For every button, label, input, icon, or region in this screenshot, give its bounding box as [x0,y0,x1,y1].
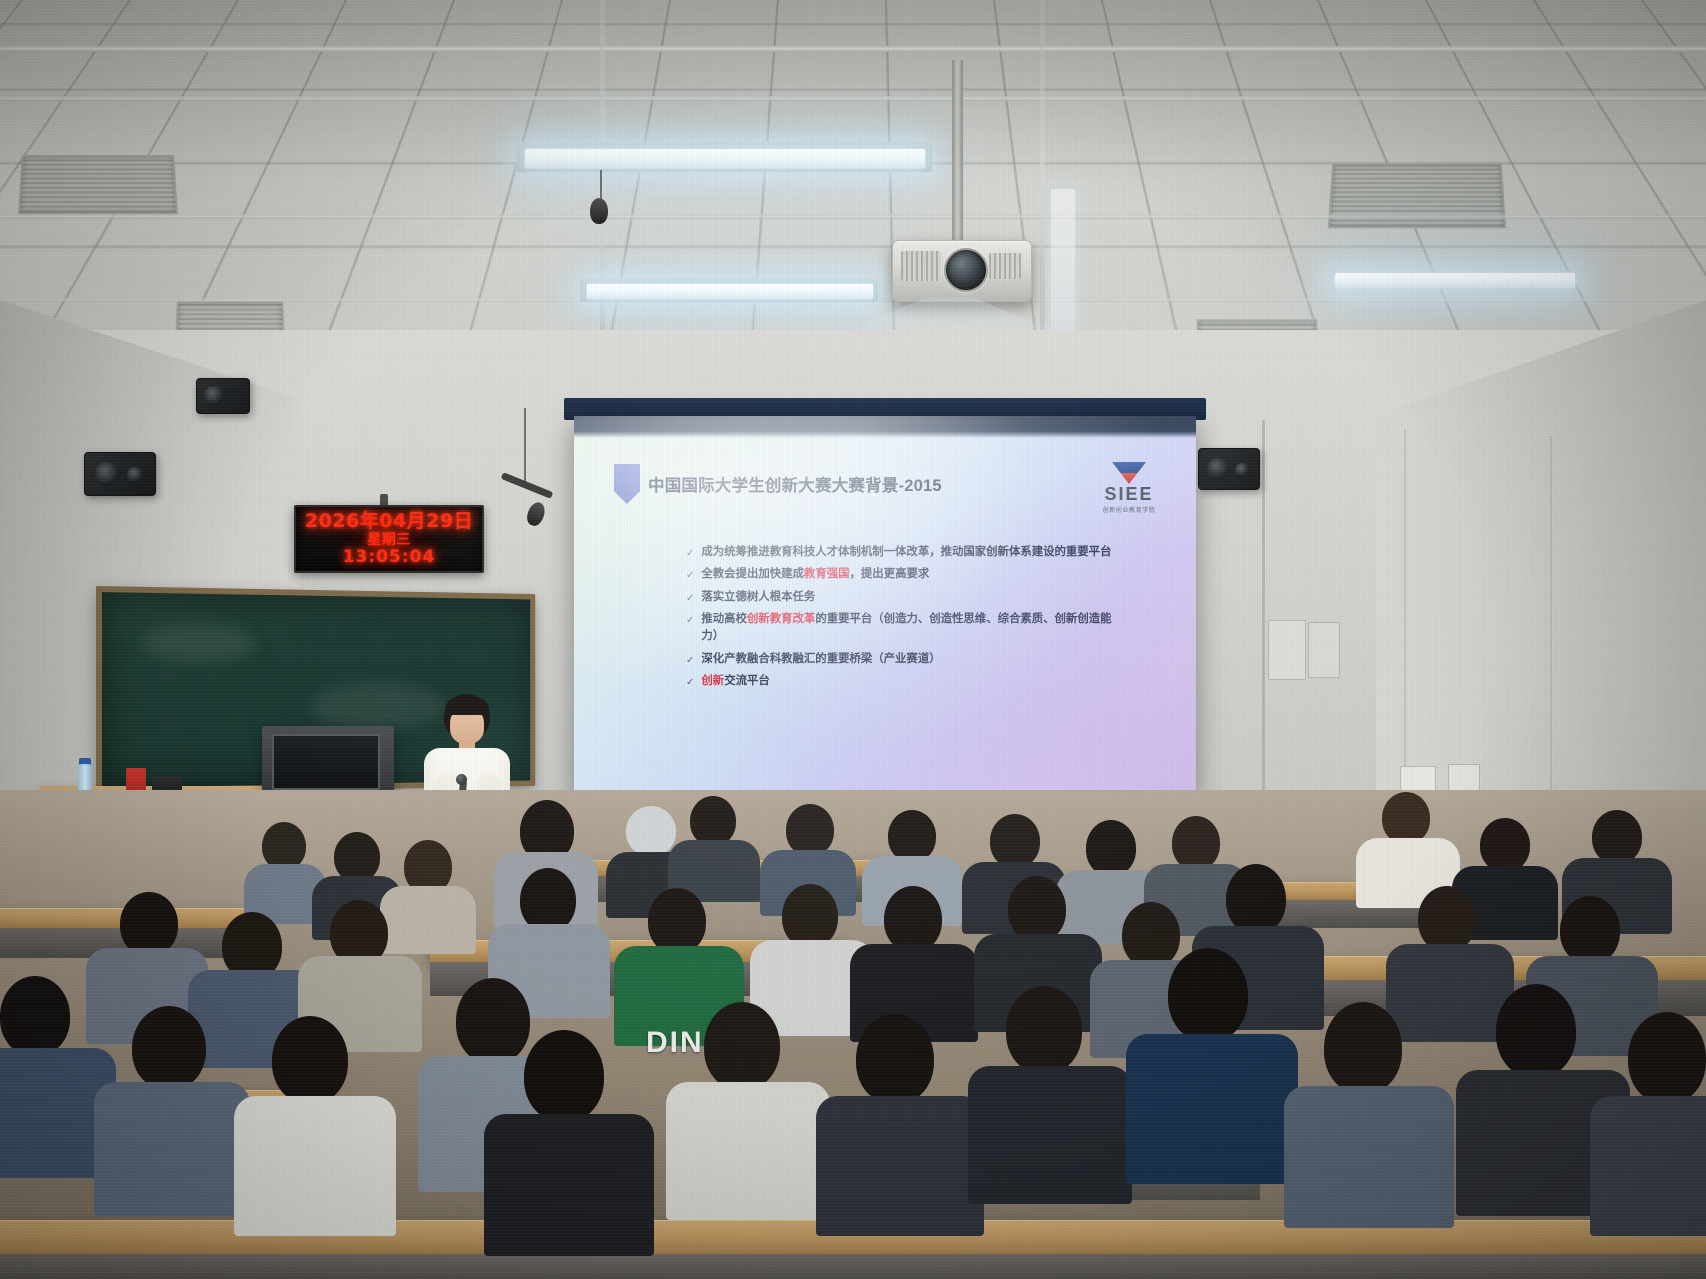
audience-head [786,804,834,856]
wall-speaker [1198,448,1260,490]
slide-bullet: ✓落实立德树人根本任务 [686,589,1116,606]
check-icon: ✓ [686,546,694,561]
plain-text: 推动高校 [701,613,747,625]
wall-seam [1404,430,1406,810]
check-icon: ✓ [686,568,694,583]
slide-bullet-text: 成为统筹推进教育科技人才体制机制一体改革，推动国家创新体系建设的重要平台 [701,544,1116,561]
highlighted-text: 创新教育改革 [747,613,815,625]
wall-seam [1550,436,1552,806]
audience-head [120,892,178,956]
wall-outlet[interactable] [1448,764,1480,792]
microphone-head [456,774,467,785]
wall-speaker [84,452,156,496]
audience-head [884,886,942,952]
clock-weekday: 星期三 [367,533,411,547]
clock-date: 2026年04月29日 [305,512,473,531]
audience-head [1008,876,1066,942]
audience-head [648,888,706,954]
ceiling-conduit [0,46,1706,52]
audience-head [1592,810,1642,864]
slide-bullet: ✓深化产教融合科教融汇的重要桥梁（产业赛道） [686,651,1116,668]
audience-head [520,868,576,932]
audience-head [990,814,1040,868]
projection-screen: 中国国际大学生创新大赛大赛背景-2015 SIEE 创新创业教育学院 ✓成为统筹… [564,398,1206,802]
audience-head [1006,986,1082,1074]
audience-torso [666,1082,830,1220]
plain-text: 落实立德树人根本任务 [701,591,815,603]
check-icon: ✓ [686,675,694,690]
screen-top-shadow [574,416,1196,438]
highlighted-text: 教育强国 [804,568,850,580]
wall-panel [1268,620,1306,680]
slide-bullet: ✓创新交流平台 [686,673,1116,690]
wall-seam [1262,420,1265,820]
audience-torso [1284,1086,1454,1228]
ceiling-conduit [0,96,1706,101]
audience-head [132,1006,206,1090]
audience-head [888,810,936,862]
audience-head [0,976,70,1056]
projector-mount-pole [952,60,963,246]
speaker-cone [1235,463,1249,477]
ceiling-light [586,283,874,300]
ceiling-light [524,148,926,169]
audience-head [1418,886,1476,952]
audience-torso [1590,1096,1706,1236]
audience-torso [968,1066,1132,1204]
audience-head [456,978,530,1064]
audience-torso [484,1114,654,1256]
slide-surface: 中国国际大学生创新大赛大赛背景-2015 SIEE 创新创业教育学院 ✓成为统筹… [574,416,1196,796]
audience-head [1324,1002,1402,1094]
check-icon: ✓ [686,653,694,668]
clock-time: 13:05:04 [343,549,436,566]
plain-text: 全教会提出加快建成 [701,568,804,580]
wall-panel [1308,622,1340,678]
audience-seating-area: DING [0,790,1706,1279]
siee-mark-icon [1112,462,1146,484]
ceiling-conduit [1040,0,1045,330]
ceiling-conduit [0,214,1706,219]
audience-head [1168,948,1248,1042]
presenter-fringe [445,698,489,715]
siee-logo: SIEE 创新创业教育学院 [1086,462,1172,514]
projector-lens [944,248,988,292]
plain-text: 成为统筹推进教育科技人才体制机制一体改革，推动国家创新体系建设的重要平台 [701,546,1111,558]
speaker-cone [127,467,143,483]
slide-bullet-text: 深化产教融合科教融汇的重要桥梁（产业赛道） [701,651,1116,668]
check-icon: ✓ [686,591,694,606]
slide-bullet-list: ✓成为统筹推进教育科技人才体制机制一体改革，推动国家创新体系建设的重要平台✓全教… [686,544,1116,695]
slide-bullet-text: 落实立德树人根本任务 [701,589,1116,606]
audience-head [1122,902,1180,968]
desk-row-panel [0,1254,1706,1279]
audience-head [856,1014,934,1104]
slide-bullet: ✓全教会提出加快建成教育强国，提出更高要求 [686,566,1116,583]
audience-head [782,884,838,948]
siee-logo-subtitle: 创新创业教育学院 [1086,505,1172,514]
wall-outlet[interactable] [1400,766,1436,792]
wall-speaker [196,378,250,414]
slide-title-row: 中国国际大学生创新大赛大赛背景-2015 [614,464,942,504]
projector-vent [989,253,1021,279]
plain-text: 交流平台 [724,675,770,687]
podium-monitor[interactable] [272,734,380,790]
audience-head [1086,820,1136,876]
led-wall-clock: 2026年04月29日 星期三 13:05:04 [294,505,484,573]
ceiling-vent [18,155,178,214]
audience-head [1172,816,1220,870]
speaker-cone [1207,458,1229,480]
audience-head [1382,792,1430,844]
highlighted-text: 创新 [701,675,724,687]
chalk-smudge [141,623,255,663]
audience-head [690,796,736,846]
audience-head [1480,818,1530,872]
lecture-hall-photo: 2026年04月29日 星期三 13:05:04 中国国际大学生创新大赛大赛背景… [0,0,1706,1279]
projector-vent [901,251,941,281]
audience-head-cap [626,806,676,856]
plain-text: ，提出更高要求 [850,568,930,580]
audience-head [524,1030,604,1122]
slide-bullet: ✓成为统筹推进教育科技人才体制机制一体改革，推动国家创新体系建设的重要平台 [686,544,1116,561]
siee-logo-text: SIEE [1086,485,1172,503]
audience-torso [234,1096,396,1236]
slide-title: 中国国际大学生创新大赛大赛背景-2015 [648,472,942,496]
audience-head [1226,864,1286,934]
speaker-cone [204,386,224,406]
microphone-boom-wire [524,408,526,484]
audience-torso [1386,944,1514,1042]
slide-bullet-text: 推动高校创新教育改革的重要平台（创造力、创造性思维、综合素质、创新创造能力） [701,611,1116,646]
audience-head [1560,896,1620,964]
slide-bullet: ✓推动高校创新教育改革的重要平台（创造力、创造性思维、综合素质、创新创造能力） [686,611,1116,646]
ceiling-light-strip [1050,188,1076,340]
audience-torso [1126,1034,1298,1184]
audience-head [1496,984,1576,1078]
plain-text: 深化产教融合科教融汇的重要桥梁（产业赛道） [701,653,940,665]
microphone-head [590,198,608,224]
check-icon: ✓ [686,613,694,628]
slide-bullet-text: 创新交流平台 [701,673,1116,690]
audience-torso [816,1096,984,1236]
speaker-cone [95,462,119,486]
audience-torso [94,1082,250,1216]
audience-head [334,832,380,882]
audience-torso [380,886,476,954]
ceiling-light [1334,272,1576,289]
audience-head [704,1002,780,1090]
audience-head [1628,1012,1706,1104]
title-badge-icon [614,464,640,504]
slide-bullet-text: 全教会提出加快建成教育强国，提出更高要求 [701,566,1116,583]
audience-head [272,1016,348,1104]
audience-head [262,822,306,870]
